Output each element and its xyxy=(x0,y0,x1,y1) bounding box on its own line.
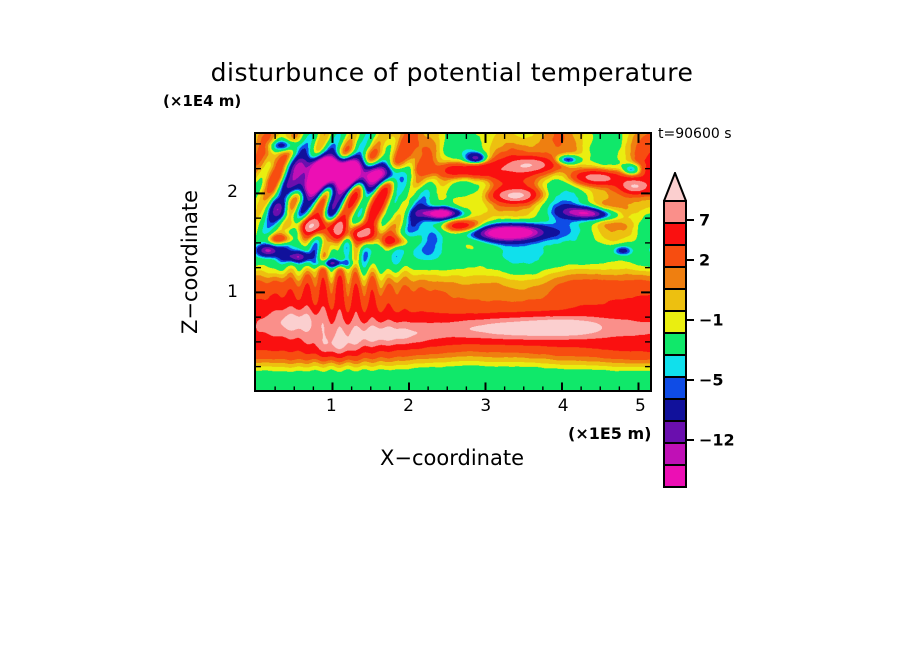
colorbar-band xyxy=(665,246,685,268)
x-tick-label: 2 xyxy=(403,396,414,416)
colorbar-bands xyxy=(663,200,687,488)
colorbar-band xyxy=(665,356,685,378)
field-canvas xyxy=(256,134,650,390)
colorbar-band xyxy=(665,400,685,422)
colorbar-band xyxy=(665,224,685,246)
y-axis-title: Z−coordinate xyxy=(178,190,202,334)
x-tick-label: 4 xyxy=(558,396,569,416)
colorbar-band xyxy=(665,334,685,356)
colorbar-band xyxy=(665,290,685,312)
colorbar-band xyxy=(665,422,685,444)
x-axis-unit-label: (×1E5 m) xyxy=(568,424,651,443)
time-annotation: t=90600 s xyxy=(658,126,732,142)
heatmap-plot-area xyxy=(254,132,652,392)
x-axis-title: X−coordinate xyxy=(0,446,904,470)
y-tick-label: 1 xyxy=(227,282,238,302)
colorbar-tick-label: −5 xyxy=(699,371,724,390)
colorbar-tick xyxy=(687,219,694,221)
x-tick-label: 5 xyxy=(635,396,646,416)
colorbar-tick-label: 2 xyxy=(699,251,710,270)
colorbar-band xyxy=(665,444,685,466)
y-axis-unit-label: (×1E4 m) xyxy=(163,92,241,110)
temperature-field xyxy=(256,134,650,390)
colorbar-band xyxy=(665,378,685,400)
colorbar-tick xyxy=(687,439,694,441)
y-tick-label: 2 xyxy=(227,182,238,202)
colorbar-tick xyxy=(687,379,694,381)
colorbar-tick xyxy=(687,319,694,321)
chart-title: disturbunce of potential temperature xyxy=(0,58,904,87)
colorbar-tick xyxy=(687,259,694,261)
colorbar-band xyxy=(665,466,685,486)
colorbar-band xyxy=(665,202,685,224)
colorbar-tick-label: −1 xyxy=(699,311,724,330)
colorbar-band xyxy=(665,312,685,334)
colorbar-band xyxy=(665,268,685,290)
colorbar-arrow-cap xyxy=(663,172,687,202)
x-tick-label: 3 xyxy=(480,396,491,416)
colorbar-tick-label: −12 xyxy=(699,431,735,450)
colorbar-tick-label: 7 xyxy=(699,211,710,230)
x-tick-label: 1 xyxy=(326,396,337,416)
